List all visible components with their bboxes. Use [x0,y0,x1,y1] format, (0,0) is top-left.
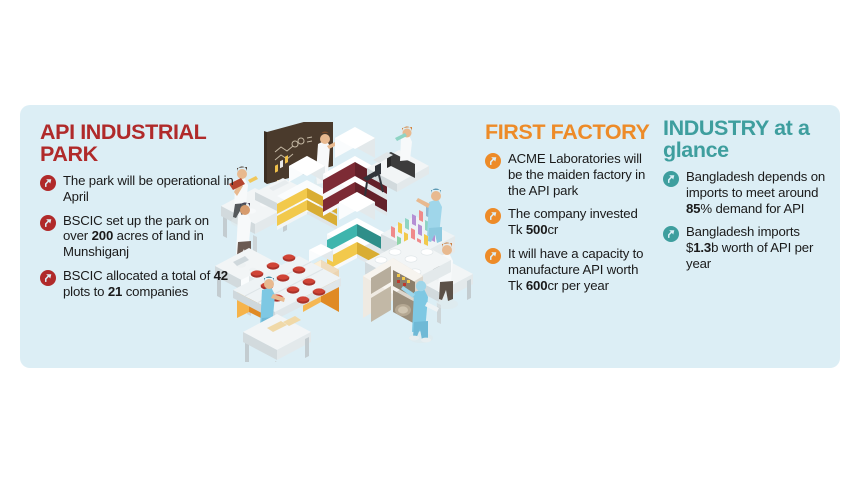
column-title-first-factory: FIRST FACTORY [485,122,653,144]
bullet-list-api-industrial-park: The park will be operational in April BS… [40,173,235,300]
column-first-factory: FIRST FACTORY ACME Laboratories will be … [485,122,653,302]
list-item: The park will be operational in April [40,173,235,205]
column-industry-at-a-glance: INDUSTRY at a glance Bangladesh depends … [663,118,835,280]
list-item-text: It will have a capacity to manufacture A… [508,246,653,294]
list-item: Bangladesh depends on imports to meet ar… [663,169,835,217]
list-item-text: BSCIC set up the park on over 200 acres … [63,213,235,261]
swirl-arrow-circle-icon [485,208,501,224]
swirl-arrow-circle-icon [40,175,56,191]
list-item: BSCIC set up the park on over 200 acres … [40,213,235,261]
swirl-arrow-circle-icon [485,153,501,169]
column-title-industry-at-a-glance: INDUSTRY at a glance [663,118,835,162]
list-item: BSCIC allocated a total of 42 plots to 2… [40,268,235,300]
bullet-list-first-factory: ACME Laboratories will be the maiden fac… [485,151,653,294]
column-api-industrial-park: API INDUSTRIAL PARK The park will be ope… [40,122,235,308]
infographic-root: API INDUSTRIAL PARK The park will be ope… [0,0,857,482]
swirl-arrow-circle-icon [40,215,56,231]
list-item: The company invested Tk 500cr [485,206,653,238]
swirl-arrow-circle-icon [40,270,56,286]
list-item-text: Bangladesh depends on imports to meet ar… [686,169,835,217]
list-item-text: The company invested Tk 500cr [508,206,653,238]
column-title-api-industrial-park: API INDUSTRIAL PARK [40,122,235,166]
list-item: It will have a capacity to manufacture A… [485,246,653,294]
list-item-text: ACME Laboratories will be the maiden fac… [508,151,653,199]
list-item: Bangladesh imports $1.3b worth of API pe… [663,224,835,272]
list-item-text: The park will be operational in April [63,173,235,205]
list-item: ACME Laboratories will be the maiden fac… [485,151,653,199]
swirl-arrow-circle-icon [663,171,679,187]
bullet-list-industry-at-a-glance: Bangladesh depends on imports to meet ar… [663,169,835,272]
list-item-text: Bangladesh imports $1.3b worth of API pe… [686,224,835,272]
list-item-text: BSCIC allocated a total of 42 plots to 2… [63,268,235,300]
isometric-pharmaceutical-factory-illustration [215,122,480,362]
swirl-arrow-circle-icon [663,226,679,242]
swirl-arrow-circle-icon [485,248,501,264]
front-bench [243,314,311,362]
